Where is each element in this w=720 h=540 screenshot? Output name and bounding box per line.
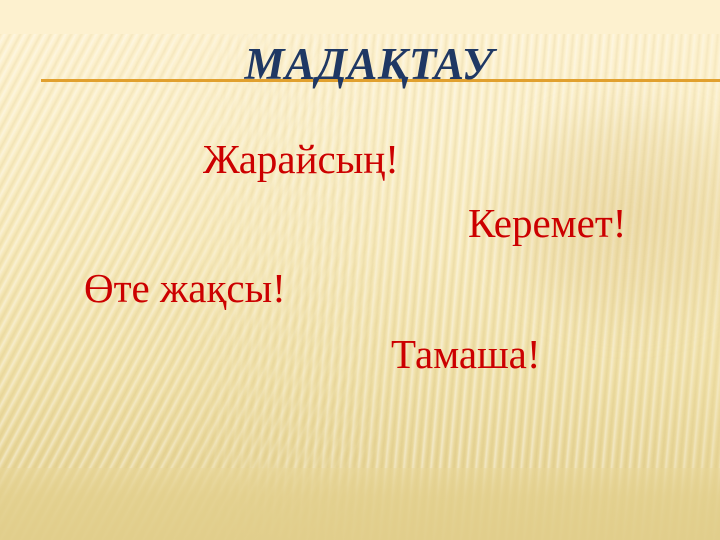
slide-title: МАДАҚТАУ (0, 38, 720, 90)
presentation-slide: МАДАҚТАУ Жарайсың! Керемет! Өте жақсы! Т… (0, 0, 720, 540)
praise-line-3: Өте жақсы! (84, 264, 286, 312)
slide-content: МАДАҚТАУ Жарайсың! Керемет! Өте жақсы! Т… (0, 0, 720, 540)
praise-line-1: Жарайсың! (203, 135, 399, 183)
praise-line-2: Керемет! (468, 199, 626, 247)
praise-line-4: Тамаша! (391, 330, 541, 378)
